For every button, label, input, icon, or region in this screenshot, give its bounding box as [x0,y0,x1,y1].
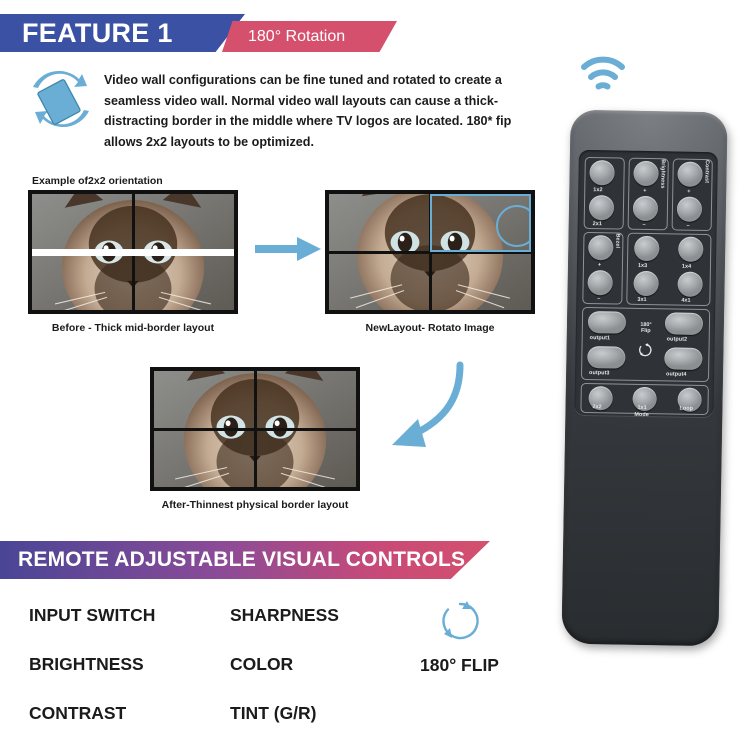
label-flip: Flip [641,328,651,334]
label-mode: Mode [634,412,649,418]
label-1x2: 1x2 [593,187,602,193]
rotate-rect-icon [30,66,92,132]
label-contrast: Contrast [703,160,709,183]
control-sharpness: SHARPNESS [230,605,339,626]
controls-column-1: INPUT SWITCH BRIGHTNESS CONTRAST [29,605,155,750]
feature-banner-pink: 180° Rotation [222,21,397,52]
video-wall-new-layout [325,190,535,314]
button-output2[interactable] [665,312,703,335]
label-output3: output3 [589,370,610,376]
label-2x2: 2x2 [592,404,601,410]
label-180-flip: 180° Flip [633,323,659,335]
control-contrast: CONTRAST [29,703,155,724]
label-1x1: 1x1 [637,405,646,411]
control-input-switch: INPUT SWITCH [29,605,155,626]
remote-control[interactable]: 1x2 2x1 + – Brightness + – Contrast + – … [561,110,727,647]
label-contrast-minus: – [687,223,690,229]
label-output4: output4 [666,371,687,377]
feature-banner: FEATURE 1 180° Rotation [0,14,400,52]
video-wall-after [150,367,360,491]
label-2x1: 2x1 [593,221,602,227]
flip-rotation-icon [637,342,653,358]
label-3x1: 3x1 [637,297,646,303]
arrow-curved-down-icon [382,357,482,462]
wifi-signal-icon [581,56,625,97]
label-1x4: 1x4 [682,264,691,270]
label-1x3: 1x3 [638,263,647,269]
button-output3[interactable] [587,346,625,369]
remote-button-panel: 1x2 2x1 + – Brightness + – Contrast + – … [574,150,718,417]
remote-controls-banner: REMOTE ADJUSTABLE VISUAL CONTROLS [0,541,490,579]
label-brightness: Brightness [659,159,666,188]
button-output4[interactable] [664,347,702,370]
controls-column-2: SHARPNESS COLOR TINT (G/R) [230,605,339,750]
label-output1: output1 [590,335,611,341]
label-output2: output2 [667,336,688,342]
caption-new-layout: NewLayout- Rotato Image [325,322,535,334]
feature-banner-blue: FEATURE 1 [0,14,245,52]
control-tint: TINT (G/R) [230,703,339,724]
label-bezel: Bezel [614,233,620,248]
control-color: COLOR [230,654,339,675]
feature-title: FEATURE 1 [0,18,173,49]
infographic-page: FEATURE 1 180° Rotation Video wall confi… [0,0,750,750]
intro-block: Video wall configurations can be fine tu… [30,66,540,152]
video-wall-before [28,190,238,314]
label-loop: Loop [679,406,693,412]
caption-after: After-Thinnest physical border layout [140,499,370,511]
caption-before: Before - Thick mid-border layout [28,322,238,334]
rotation-circle-icon [437,598,483,644]
label-bezel-minus: – [597,296,600,302]
control-brightness: BRIGHTNESS [29,654,155,675]
label-brightness-plus: + [643,188,646,194]
label-bezel-plus: + [598,262,601,268]
feature-subtitle: 180° Rotation [222,28,345,46]
label-contrast-plus: + [687,189,690,195]
button-output1[interactable] [588,311,626,334]
example-label: Example of2x2 orientation [32,175,163,187]
label-brightness-minus: – [643,222,646,228]
remote-controls-title: REMOTE ADJUSTABLE VISUAL CONTROLS [0,548,465,572]
wall-divider-horizontal [329,251,531,254]
arrow-right-icon [255,232,325,271]
wall-divider-thick-white [32,249,234,256]
wall-divider-horizontal [154,428,356,431]
flip-control-block: 180° FLIP [412,598,507,676]
intro-paragraph: Video wall configurations can be fine tu… [104,66,540,152]
label-4x1: 4x1 [681,298,690,304]
flip-label: 180° FLIP [412,655,507,676]
